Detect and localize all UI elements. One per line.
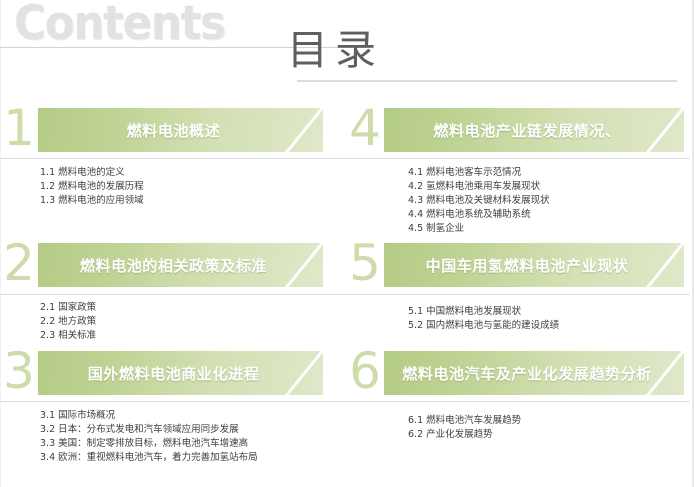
list-item[interactable]: 4.5 制氢企业 bbox=[408, 222, 550, 236]
list-item[interactable]: 4.1 燃料电池客车示范情况 bbox=[408, 166, 550, 180]
page-header: Contents 目录 bbox=[0, 0, 694, 96]
section-1-items: 1.1 燃料电池的定义 1.2 燃料电池的发展历程 1.3 燃料电池的应用领域 bbox=[40, 166, 144, 208]
list-item[interactable]: 1.2 燃料电池的发展历程 bbox=[40, 180, 144, 194]
list-item[interactable]: 2.1 国家政策 bbox=[40, 301, 96, 315]
section-title: 燃料电池汽车及产业化发展趋势分析 bbox=[384, 351, 684, 395]
section-number: 1 bbox=[2, 104, 36, 152]
section-number: 3 bbox=[2, 347, 36, 395]
section-number: 4 bbox=[348, 104, 382, 152]
page-title: 目录 bbox=[287, 16, 383, 76]
section-number: 2 bbox=[2, 239, 36, 287]
section-3-divider bbox=[0, 401, 690, 402]
list-item[interactable]: 6.1 燃料电池汽车发展趋势 bbox=[408, 414, 521, 428]
section-title: 燃料电池产业链发展情况、 bbox=[384, 108, 684, 152]
section-title-bar[interactable]: 国外燃料电池商业化进程 bbox=[38, 351, 323, 395]
section-1-divider bbox=[0, 158, 690, 159]
list-item[interactable]: 3.2 日本：分布式发电和汽车领域应用同步发展 bbox=[40, 423, 258, 437]
list-item[interactable]: 1.1 燃料电池的定义 bbox=[40, 166, 144, 180]
list-item[interactable]: 3.4 欧洲：重视燃料电池汽车，着力完善加氢站布局 bbox=[40, 451, 258, 465]
slide-page: Contents 目录 1 燃料电池概述 1.1 燃料电池的定义 1.2 燃料电… bbox=[0, 0, 694, 487]
section-title-bar[interactable]: 燃料电池概述 bbox=[38, 108, 323, 152]
section-2-items: 2.1 国家政策 2.2 地方政策 2.3 相关标准 bbox=[40, 301, 96, 343]
list-item[interactable]: 2.2 地方政策 bbox=[40, 315, 96, 329]
list-item[interactable]: 6.2 产业化发展趋势 bbox=[408, 428, 521, 442]
section-2-divider bbox=[0, 294, 690, 295]
section-number: 5 bbox=[348, 239, 382, 287]
list-item[interactable]: 3.3 美国：制定零排放目标，燃料电池汽车增速高 bbox=[40, 437, 258, 451]
section-title-bar[interactable]: 燃料电池汽车及产业化发展趋势分析 bbox=[384, 351, 684, 395]
list-item[interactable]: 5.2 国内燃料电池与氢能的建设成绩 bbox=[408, 319, 559, 333]
list-item[interactable]: 2.3 相关标准 bbox=[40, 329, 96, 343]
section-title-bar[interactable]: 燃料电池的相关政策及标准 bbox=[38, 243, 323, 287]
contents-watermark: Contents bbox=[14, 0, 225, 51]
list-item[interactable]: 5.1 中国燃料电池发展现状 bbox=[408, 305, 559, 319]
section-number: 6 bbox=[348, 347, 382, 395]
section-title: 燃料电池概述 bbox=[38, 108, 323, 152]
section-3-items: 3.1 国际市场概况 3.2 日本：分布式发电和汽车领域应用同步发展 3.3 美… bbox=[40, 409, 258, 465]
list-item[interactable]: 4.2 氢燃料电池乘用车发展现状 bbox=[408, 180, 550, 194]
section-title: 国外燃料电池商业化进程 bbox=[38, 351, 323, 395]
section-title: 燃料电池的相关政策及标准 bbox=[38, 243, 323, 287]
section-title-bar[interactable]: 燃料电池产业链发展情况、 bbox=[384, 108, 684, 152]
list-item[interactable]: 3.1 国际市场概况 bbox=[40, 409, 258, 423]
section-6-items: 6.1 燃料电池汽车发展趋势 6.2 产业化发展趋势 bbox=[408, 414, 521, 442]
section-title: 中国车用氢燃料电池产业现状 bbox=[384, 243, 684, 287]
list-item[interactable]: 1.3 燃料电池的应用领域 bbox=[40, 194, 144, 208]
list-item[interactable]: 4.3 燃料电池及关键材料发展现状 bbox=[408, 194, 550, 208]
section-4-items: 4.1 燃料电池客车示范情况 4.2 氢燃料电池乘用车发展现状 4.3 燃料电池… bbox=[408, 166, 550, 236]
header-rule-right bbox=[297, 80, 677, 82]
section-5-items: 5.1 中国燃料电池发展现状 5.2 国内燃料电池与氢能的建设成绩 bbox=[408, 305, 559, 333]
section-title-bar[interactable]: 中国车用氢燃料电池产业现状 bbox=[384, 243, 684, 287]
list-item[interactable]: 4.4 燃料电池系统及辅助系统 bbox=[408, 208, 550, 222]
